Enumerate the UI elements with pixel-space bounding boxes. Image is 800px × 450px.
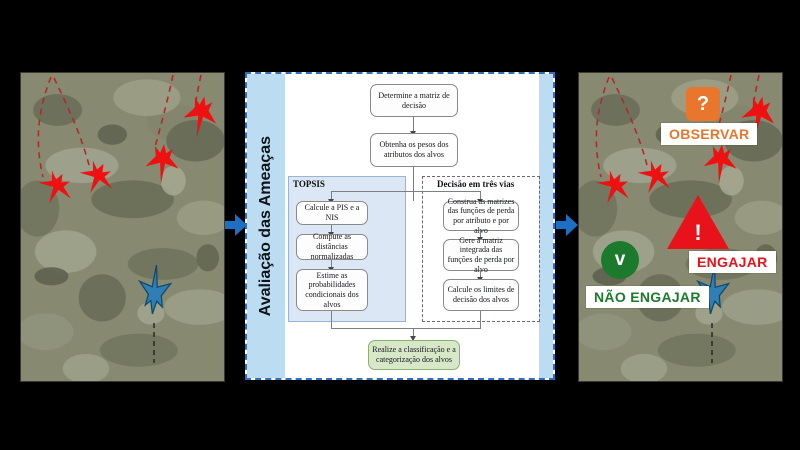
group-topsis-title: TOPSIS	[293, 179, 325, 189]
flow-node-loss-function-matrices: Construa as matrizes das funções de perd…	[443, 201, 519, 231]
figure-canvas: Avaliação das Ameaças TOPSIS Decisão em …	[0, 0, 800, 450]
status-badge-engage[interactable]: !	[667, 195, 729, 249]
exclamation-mark-icon: !	[694, 222, 701, 249]
flow-node-decision-matrix: Determine a matriz de decisão	[370, 84, 458, 117]
connector	[331, 311, 332, 329]
hostile-aircraft	[141, 141, 183, 187]
connector	[331, 328, 414, 329]
flowchart: TOPSIS Decisão em três vias	[285, 74, 539, 378]
arrow-scene-to-assessment	[225, 214, 247, 236]
right-accent-band	[539, 74, 553, 378]
status-badge-do-not-engage[interactable]: v	[601, 241, 639, 279]
panel-vertical-title: Avaliação das Ameaças	[247, 74, 285, 378]
check-mark-icon: v	[615, 249, 626, 271]
flow-node-normalized-distances: Compute as distâncias normalizadas	[296, 234, 368, 260]
connector	[331, 191, 414, 192]
label-observe[interactable]: OBSERVAR	[661, 123, 757, 145]
connector	[413, 328, 481, 329]
flow-node-conditional-probabilities: Estime as probabilidades condicionais do…	[296, 269, 368, 311]
flow-node-integrated-loss-matrix: Gere a matriz integrada das funções de p…	[443, 239, 519, 271]
threat-scene-panel	[20, 72, 225, 382]
connector	[413, 191, 481, 192]
label-do-not-engage[interactable]: NÃO ENGAJAR	[586, 286, 709, 308]
friendly-aircraft	[134, 261, 175, 316]
flow-node-attribute-weights: Obtenha os pesos dos atributos dos alvos	[370, 133, 458, 167]
panel-vertical-title-text: Avaliação das Ameaças	[257, 136, 275, 316]
connector	[413, 167, 414, 201]
threat-assessment-panel: Avaliação das Ameaças TOPSIS Decisão em …	[245, 72, 555, 380]
hostile-aircraft	[699, 141, 741, 187]
group-three-way-decision-title: Decisão em três vias	[437, 179, 514, 189]
flow-node-decision-thresholds: Calcule os limites de decisão dos alvos	[443, 279, 519, 311]
flow-node-pis-nis: Calcule a PIS e a NIS	[296, 201, 368, 225]
question-mark-icon: ?	[697, 93, 709, 116]
flow-node-classification-categorization: Realize a classificação e a categorizaçã…	[368, 340, 460, 370]
status-badge-observe[interactable]: ?	[686, 87, 720, 121]
connector	[480, 311, 481, 329]
engagement-decision-panel: ? OBSERVAR ! ENGAJAR v NÃO ENGAJAR	[578, 72, 783, 382]
arrow-assessment-to-decision	[556, 214, 578, 236]
label-engage[interactable]: ENGAJAR	[689, 251, 776, 273]
